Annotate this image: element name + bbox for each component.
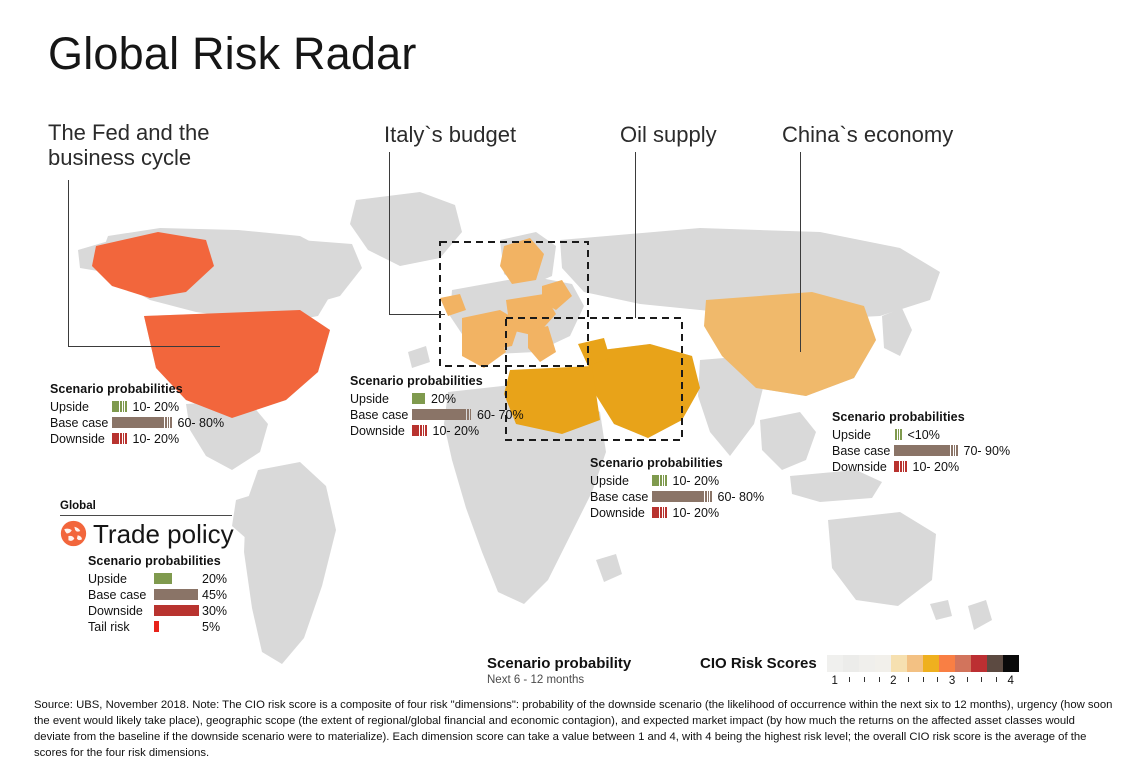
scenario-bar-solid [652,507,659,518]
scenario-block-china: Scenario probabilitiesUpside<10%Base cas… [832,410,1010,475]
scenario-row-label: Downside [50,432,112,446]
scenario-row-value: 10- 20% [133,400,180,414]
risk-tick-minor [864,677,865,682]
risk-color-scale [827,655,1019,672]
scenario-bar [112,401,127,412]
scenario-row: Base case60- 70% [350,407,524,422]
scenario-row-value: 70- 90% [964,444,1011,458]
scenario-row: Base case60- 80% [50,415,224,430]
scenario-bar-solid [154,621,159,632]
scenario-row-label: Base case [350,408,412,422]
risk-swatch [971,655,987,672]
global-scenarios: Scenario probabilitiesUpside20%Base case… [88,554,275,634]
scenario-bar [112,417,172,428]
callout-label-italy: Italy`s budget [384,122,584,147]
scenario-row: Upside<10% [832,427,1010,442]
scenario-block-oil: Scenario probabilitiesUpside10- 20%Base … [590,456,764,521]
divider [60,515,232,516]
scenario-bar-solid [112,401,119,412]
scenario-row: Base case60- 80% [590,489,764,504]
scenario-row-value: <10% [908,428,940,442]
page-title: Global Risk Radar [48,30,417,77]
scenario-row-value: 60- 70% [477,408,524,422]
footnote-source: Source: UBS, November 2018. Note: The CI… [34,697,1114,761]
globe-icon [60,520,87,547]
scenario-bar-solid [154,605,199,616]
scenario-row: Upside20% [350,391,524,406]
scenario-row: Downside30% [88,603,275,618]
scenario-bar [112,433,127,444]
scenario-block-title: Scenario probabilities [832,410,1010,424]
scenario-row-value: 20% [431,392,456,406]
scenario-row-value: 5% [202,620,220,634]
scenario-row-value: 60- 80% [718,490,765,504]
scenario-bar-solid [652,491,704,502]
leader-line-oil [635,152,636,318]
scenario-row: Downside10- 20% [590,505,764,520]
risk-tick-label: 2 [890,675,896,687]
scenario-row-value: 10- 20% [673,474,720,488]
scenario-bar-solid [112,417,164,428]
global-scenario-rows: Upside20%Base case45%Downside30%Tail ris… [88,571,275,634]
global-scenario-title: Scenario probabilities [88,554,275,568]
scenario-row: Downside10- 20% [50,431,224,446]
scenario-row-label: Base case [50,416,112,430]
scenario-bar [652,507,667,518]
scenario-row-value: 10- 20% [133,432,180,446]
scenario-row-label: Base case [88,588,154,602]
risk-tick-label: 3 [949,675,955,687]
risk-swatch [827,655,843,672]
callout-label-fed: The Fed and the business cycle [48,120,308,171]
risk-scale-ticks: 1234 [827,675,1019,689]
scenario-bar-range-stripes [420,425,427,436]
scenario-bar-solid [412,425,419,436]
global-kicker: Global [60,500,275,512]
scenario-row: Upside10- 20% [50,399,224,414]
scenario-row-value: 10- 20% [673,506,720,520]
risk-swatch [875,655,891,672]
risk-swatch [939,655,955,672]
risk-tick-minor [937,677,938,682]
risk-swatch [987,655,1003,672]
callout-label-china: China`s economy [782,122,1012,147]
scenario-row-label: Base case [590,490,652,504]
scenario-row-value: 45% [202,588,227,602]
scenario-bar-range-stripes [705,491,712,502]
risk-swatch [955,655,971,672]
scenario-bar-solid [154,589,198,600]
scenario-block-title: Scenario probabilities [590,456,764,470]
scenario-bar [412,393,425,404]
scenario-bar [894,429,902,440]
scenario-bar-solid [154,573,172,584]
scenario-bar-solid [412,409,466,420]
leader-line-italy-h [389,314,445,315]
leader-line-china [800,152,801,352]
scenario-bar [154,573,202,584]
risk-tick-minor [923,677,924,682]
scenario-bar [154,605,202,616]
scenario-row: Upside10- 20% [590,473,764,488]
scenario-bar-solid [412,393,425,404]
scenario-bar [894,445,958,456]
scenario-row-label: Tail risk [88,620,154,634]
scenario-bar-range-stripes [660,507,667,518]
leader-line-fed-h [68,346,220,347]
scenario-row-value: 10- 20% [433,424,480,438]
legend-cio-risk-scores: CIO Risk Scores 1234 [700,655,1019,689]
scenario-bar-solid [112,433,119,444]
scenario-bar [412,409,471,420]
scenario-row: Downside10- 20% [832,459,1010,474]
scenario-bar [412,425,427,436]
scenario-bar [652,491,712,502]
scenario-bar-range-stripes [951,445,958,456]
global-card: Global Trade policy Scenario probabiliti… [60,500,275,635]
scenario-row-value: 30% [202,604,227,618]
risk-tick-minor [908,677,909,682]
scenario-bar-solid [652,475,659,486]
scenario-bar-solid [894,461,899,472]
scenario-block-title: Scenario probabilities [50,382,224,396]
risk-tick-minor [849,677,850,682]
scenario-bar-range-stripes [467,409,471,420]
scenario-bar [154,589,202,600]
risk-swatch [859,655,875,672]
callout-label-oil: Oil supply [620,122,780,147]
scenario-row-label: Downside [88,604,154,618]
leader-line-fed [68,180,69,346]
scenario-bar-range-stripes [895,429,902,440]
scenario-row-value: 10- 20% [913,460,960,474]
scenario-row: Base case70- 90% [832,443,1010,458]
scenario-row-label: Base case [832,444,894,458]
scenario-bar [154,621,202,632]
scenario-row-label: Downside [590,506,652,520]
risk-tick-minor [996,677,997,682]
scenario-bar [652,475,667,486]
risk-swatch [907,655,923,672]
legend-risk-title: CIO Risk Scores [700,655,817,672]
scenario-row: Upside20% [88,571,275,586]
scenario-bar-range-stripes [900,461,907,472]
risk-tick-minor [967,677,968,682]
risk-tick-minor [981,677,982,682]
scenario-block-title: Scenario probabilities [350,374,524,388]
scenario-block-fed: Scenario probabilitiesUpside10- 20%Base … [50,382,224,447]
global-topic: Trade policy [93,521,234,547]
scenario-row-value: 20% [202,572,227,586]
scenario-bar-range-stripes [165,417,172,428]
scenario-row: Base case45% [88,587,275,602]
scenario-row: Downside10- 20% [350,423,524,438]
legend-scenario-probability: Scenario probability Next 6 - 12 months [487,655,631,686]
scenario-bar-range-stripes [120,433,127,444]
risk-swatch [843,655,859,672]
scenario-bar-range-stripes [660,475,667,486]
risk-tick-minor [879,677,880,682]
legend-scenario-subtitle: Next 6 - 12 months [487,674,631,686]
risk-swatch [1003,655,1019,672]
scenario-row-value: 60- 80% [178,416,225,430]
leader-line-italy [389,152,390,314]
scenario-bar-range-stripes [120,401,127,412]
risk-tick-label: 1 [832,675,838,687]
scenario-row-label: Upside [832,428,894,442]
scenario-row-label: Upside [88,572,154,586]
scenario-bar-solid [894,445,950,456]
risk-swatch [891,655,907,672]
scenario-row-label: Upside [350,392,412,406]
risk-tick-label: 4 [1008,675,1014,687]
risk-swatch [923,655,939,672]
scenario-bar [894,461,907,472]
scenario-row-label: Upside [50,400,112,414]
legend-scenario-title: Scenario probability [487,655,631,672]
scenario-row-label: Upside [590,474,652,488]
scenario-row-label: Downside [350,424,412,438]
scenario-block-italy: Scenario probabilitiesUpside20%Base case… [350,374,524,439]
scenario-row-label: Downside [832,460,894,474]
scenario-row: Tail risk5% [88,619,275,634]
